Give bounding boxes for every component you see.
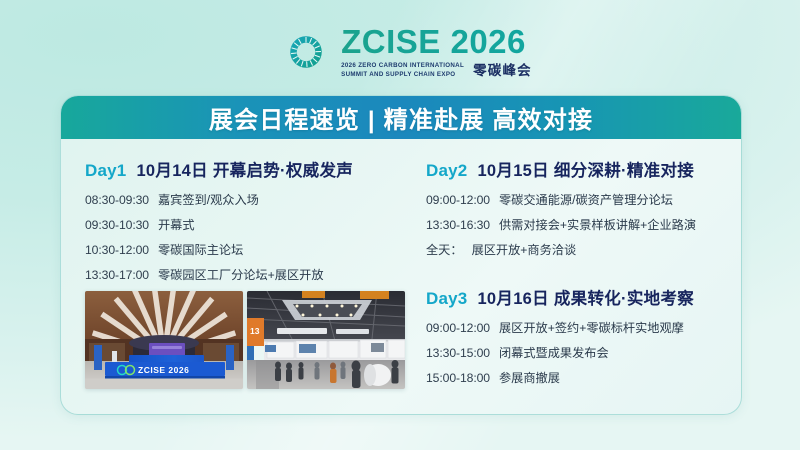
day3-block: Day3 10月16日 成果转化·实地考察 09:00-12:00 展区开放+签… <box>426 285 726 386</box>
day3-title: 10月16日 成果转化·实地考察 <box>477 285 694 309</box>
schedule-row: 13:30-17:00 零碳园区工厂分论坛+展区开放 <box>85 267 403 283</box>
day2-label: Day2 <box>426 161 467 181</box>
schedule-desc: 开幕式 <box>158 217 195 233</box>
schedule-row: 13:30-15:00 闭幕式暨成果发布会 <box>426 345 726 361</box>
schedule-desc: 闭幕式暨成果发布会 <box>499 345 609 361</box>
schedule-time: 10:30-12:00 <box>85 242 149 258</box>
day1-heading: Day1 10月14日 开幕启势·权威发声 <box>85 157 403 181</box>
schedule-time: 08:30-09:30 <box>85 192 149 208</box>
day3-label: Day3 <box>426 289 467 309</box>
day2-block: Day2 10月15日 细分深耕·精准对接 09:00-12:00 零碳交通能源… <box>426 157 726 258</box>
schedule-desc: 嘉宾签到/观众入场 <box>158 192 259 208</box>
expo-entrance-photo: ZCISE 2026 <box>85 291 243 389</box>
schedule-time: 全天： <box>426 242 463 258</box>
brand-subtitle-cn: 零碳峰会 <box>473 64 532 78</box>
brand-title: ZCISE 2026 <box>341 25 532 58</box>
day2-schedule-list: 09:00-12:00 零碳交通能源/碳资产管理分论坛 13:30-16:30 … <box>426 192 726 258</box>
day3-heading: Day3 10月16日 成果转化·实地考察 <box>426 285 726 309</box>
schedule-desc: 展区开放+商务洽谈 <box>472 242 577 258</box>
schedule-row: 15:00-18:00 参展商撤展 <box>426 370 726 386</box>
svg-text:ZCISE 2026: ZCISE 2026 <box>138 365 189 375</box>
schedule-time: 09:00-12:00 <box>426 320 490 336</box>
schedule-row: 13:30-16:30 供需对接会+实景样板讲解+企业路演 <box>426 217 726 233</box>
expo-hall-floor-photo: 13 <box>247 291 405 389</box>
schedule-row: 09:00-12:00 零碳交通能源/碳资产管理分论坛 <box>426 192 726 208</box>
schedule-row: 08:30-09:30 嘉宾签到/观众入场 <box>85 192 403 208</box>
schedule-desc: 零碳交通能源/碳资产管理分论坛 <box>499 192 673 208</box>
schedule-card: 展会日程速览 | 精准赴展 高效对接 <box>60 95 742 415</box>
day1-title: 10月14日 开幕启势·权威发声 <box>136 157 353 181</box>
schedule-desc: 参展商撤展 <box>499 370 560 386</box>
day3-schedule-list: 09:00-12:00 展区开放+签约+零碳标杆实地观摩 13:30-15:00… <box>426 320 726 386</box>
schedule-row: 09:00-12:00 展区开放+签约+零碳标杆实地观摩 <box>426 320 726 336</box>
day2-day3-column: Day2 10月15日 细分深耕·精准对接 09:00-12:00 零碳交通能源… <box>426 157 726 395</box>
brand-text-block: ZCISE 2026 2026 ZERO CARBON INTERNATIONA… <box>341 25 532 80</box>
schedule-desc: 供需对接会+实景样板讲解+企业路演 <box>499 217 696 233</box>
schedule-time: 13:30-16:30 <box>426 217 490 233</box>
schedule-desc: 展区开放+签约+零碳标杆实地观摩 <box>499 320 684 336</box>
schedule-time: 09:30-10:30 <box>85 217 149 233</box>
day2-title: 10月15日 细分深耕·精准对接 <box>477 157 694 181</box>
schedule-row: 09:30-10:30 开幕式 <box>85 217 403 233</box>
day1-label: Day1 <box>85 161 126 181</box>
zero-carbon-co-ring-logo-icon <box>268 22 328 82</box>
schedule-card-header: 展会日程速览 | 精准赴展 高效对接 <box>61 96 741 139</box>
schedule-card-body: Day1 10月14日 开幕启势·权威发声 08:30-09:30 嘉宾签到/观… <box>61 139 741 414</box>
schedule-desc: 零碳园区工厂分论坛+展区开放 <box>158 267 324 283</box>
brand-header: ZCISE 2026 2026 ZERO CARBON INTERNATIONA… <box>0 16 800 88</box>
schedule-desc: 零碳国际主论坛 <box>158 242 243 258</box>
schedule-time: 13:30-15:00 <box>426 345 490 361</box>
svg-text:13: 13 <box>250 326 260 336</box>
schedule-time: 15:00-18:00 <box>426 370 490 386</box>
photo-strip: ZCISE 2026 <box>85 291 405 389</box>
schedule-row: 10:30-12:00 零碳国际主论坛 <box>85 242 403 258</box>
schedule-card-title: 展会日程速览 | 精准赴展 高效对接 <box>209 100 593 135</box>
brand-subtitle-row: 2026 ZERO CARBON INTERNATIONAL SUMMIT AN… <box>341 62 532 80</box>
schedule-time: 13:30-17:00 <box>85 267 149 283</box>
brand-subtitle-en: 2026 ZERO CARBON INTERNATIONAL SUMMIT AN… <box>341 62 464 80</box>
day2-heading: Day2 10月15日 细分深耕·精准对接 <box>426 157 726 181</box>
schedule-time: 09:00-12:00 <box>426 192 490 208</box>
schedule-row: 全天： 展区开放+商务洽谈 <box>426 242 726 258</box>
